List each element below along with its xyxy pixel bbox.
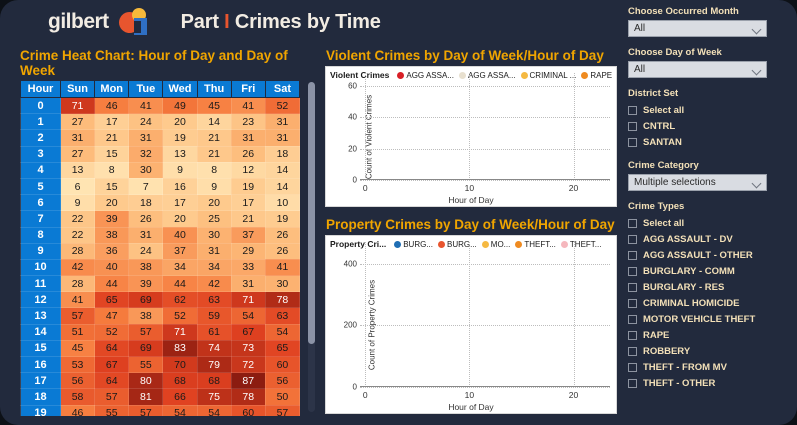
bar-slot bbox=[381, 242, 391, 387]
heat-row-hour: 10 bbox=[21, 259, 61, 275]
checkbox-icon[interactable] bbox=[628, 235, 637, 244]
heat-cell[interactable]: 14 bbox=[265, 162, 299, 178]
heat-cell[interactable]: 23 bbox=[231, 114, 265, 130]
heat-cell[interactable]: 68 bbox=[197, 373, 231, 389]
occurred-month-label: Choose Occurred Month bbox=[628, 6, 793, 17]
table-row[interactable]: 1653675570797260 bbox=[21, 357, 300, 373]
heat-cell[interactable]: 72 bbox=[231, 357, 265, 373]
table-row[interactable]: 1946555754546057 bbox=[21, 405, 300, 416]
heat-cell[interactable]: 30 bbox=[129, 162, 163, 178]
heat-cell[interactable]: 9 bbox=[163, 162, 197, 178]
table-row[interactable]: 071464149454152 bbox=[21, 98, 300, 114]
heat-cell[interactable]: 56 bbox=[61, 373, 95, 389]
bar-slot bbox=[475, 73, 485, 180]
heat-cell[interactable]: 63 bbox=[265, 308, 299, 324]
heat-cell[interactable]: 74 bbox=[197, 340, 231, 356]
table-row[interactable]: 1241656962637178 bbox=[21, 292, 300, 308]
heat-cell[interactable]: 54 bbox=[231, 308, 265, 324]
bar-slot bbox=[423, 242, 433, 387]
property-plot-area: 020040001020 bbox=[360, 242, 610, 387]
heat-cell[interactable]: 19 bbox=[231, 178, 265, 194]
heat-col-header-hour: Hour bbox=[21, 81, 61, 98]
table-row[interactable]: 327153213212618 bbox=[21, 146, 300, 162]
crime-category-label: Crime Category bbox=[628, 160, 793, 171]
table-row[interactable]: 127172420142331 bbox=[21, 114, 300, 130]
heat-cell[interactable]: 26 bbox=[265, 243, 299, 259]
heat-cell[interactable]: 58 bbox=[61, 389, 95, 405]
heat-cell[interactable]: 53 bbox=[61, 357, 95, 373]
bar-slot bbox=[485, 242, 495, 387]
heat-cell[interactable]: 27 bbox=[61, 114, 95, 130]
brand-logo: gilbert bbox=[48, 8, 149, 36]
crime-type-option-theft-from-mv[interactable]: THEFT - FROM MV bbox=[628, 359, 793, 375]
table-row[interactable]: 822383140303726 bbox=[21, 227, 300, 243]
heat-cell[interactable]: 56 bbox=[265, 373, 299, 389]
heat-cell[interactable]: 45 bbox=[61, 340, 95, 356]
heat-cell[interactable]: 9 bbox=[61, 195, 95, 211]
heat-cell[interactable]: 31 bbox=[231, 130, 265, 146]
gridline bbox=[360, 180, 610, 181]
heat-row-hour: 14 bbox=[21, 324, 61, 340]
heat-cell[interactable]: 61 bbox=[197, 324, 231, 340]
district-option-santan[interactable]: SANTAN bbox=[628, 134, 793, 150]
heat-cell[interactable]: 52 bbox=[95, 324, 129, 340]
heat-cell[interactable]: 21 bbox=[95, 130, 129, 146]
y-axis-tick: 40 bbox=[348, 113, 357, 122]
heat-cell[interactable]: 64 bbox=[95, 373, 129, 389]
heat-cell[interactable]: 14 bbox=[197, 114, 231, 130]
heat-cell[interactable]: 21 bbox=[197, 146, 231, 162]
heat-cell[interactable]: 30 bbox=[197, 227, 231, 243]
heat-cell[interactable]: 68 bbox=[163, 373, 197, 389]
heat-cell[interactable]: 19 bbox=[163, 130, 197, 146]
heat-cell[interactable]: 44 bbox=[95, 276, 129, 292]
day-of-week-select[interactable]: All bbox=[628, 61, 767, 78]
bar-slot bbox=[391, 73, 401, 180]
heat-cell[interactable]: 81 bbox=[129, 389, 163, 405]
heat-cell[interactable]: 59 bbox=[197, 308, 231, 324]
property-chart-title: Property Crimes by Day of Week/Hour of D… bbox=[322, 215, 620, 235]
heat-cell[interactable]: 16 bbox=[163, 178, 197, 194]
heat-row-hour: 1 bbox=[21, 114, 61, 130]
heat-row-hour: 12 bbox=[21, 292, 61, 308]
heat-cell[interactable]: 31 bbox=[231, 276, 265, 292]
table-row[interactable]: 1756648068688756 bbox=[21, 373, 300, 389]
violent-crimes-card: Violent Crimes by Day of Week/Hour of Da… bbox=[322, 46, 620, 211]
checkbox-label: CRIMINAL HOMICIDE bbox=[643, 298, 739, 309]
checkbox-label: AGG ASSAULT - DV bbox=[643, 234, 733, 245]
bar-slot bbox=[506, 242, 516, 387]
chevron-down-icon bbox=[752, 179, 762, 189]
heat-cell[interactable]: 47 bbox=[95, 308, 129, 324]
heat-cell[interactable]: 66 bbox=[163, 389, 197, 405]
heat-cell[interactable]: 62 bbox=[163, 292, 197, 308]
heat-cell[interactable]: 14 bbox=[265, 178, 299, 194]
y-axis-tick: 400 bbox=[344, 259, 357, 268]
bar-slot bbox=[589, 73, 599, 180]
bar-slot bbox=[548, 242, 558, 387]
heat-row-hour: 17 bbox=[21, 373, 61, 389]
bar-slot bbox=[454, 242, 464, 387]
violent-plot-area: 020406001020 bbox=[360, 73, 610, 180]
heat-cell[interactable]: 65 bbox=[95, 292, 129, 308]
day-of-week-label: Choose Day of Week bbox=[628, 47, 793, 58]
filter-panel: Choose Occurred Month All Choose Day of … bbox=[628, 6, 793, 421]
bar-slot bbox=[568, 73, 578, 180]
heat-cell[interactable]: 71 bbox=[231, 292, 265, 308]
bar-slot bbox=[475, 242, 485, 387]
heat-chart-title: Crime Heat Chart: Hour of Day and Day of… bbox=[14, 46, 304, 80]
heat-cell[interactable]: 60 bbox=[231, 405, 265, 416]
heat-row-hour: 5 bbox=[21, 178, 61, 194]
bar-slot bbox=[589, 242, 599, 387]
district-option-select-all[interactable]: Select all bbox=[628, 102, 793, 118]
x-axis-tick: 20 bbox=[569, 183, 578, 193]
bar-slot bbox=[370, 242, 380, 387]
crime-type-option-theft-other[interactable]: THEFT - OTHER bbox=[628, 375, 793, 391]
heat-cell[interactable]: 38 bbox=[95, 227, 129, 243]
heat-cell[interactable]: 49 bbox=[163, 98, 197, 114]
heat-cell[interactable]: 46 bbox=[95, 98, 129, 114]
crime-types-options: Select allAGG ASSAULT - DVAGG ASSAULT - … bbox=[628, 215, 793, 391]
table-row[interactable]: 1042403834343341 bbox=[21, 259, 300, 275]
heat-cell[interactable]: 83 bbox=[163, 340, 197, 356]
heat-cell[interactable]: 28 bbox=[61, 276, 95, 292]
bar-group bbox=[360, 73, 610, 180]
table-row[interactable]: 1128443944423130 bbox=[21, 276, 300, 292]
heat-cell[interactable]: 10 bbox=[265, 195, 299, 211]
heat-cell[interactable]: 75 bbox=[197, 389, 231, 405]
checkbox-icon[interactable] bbox=[628, 138, 637, 147]
bar-slot bbox=[537, 73, 547, 180]
bar-slot bbox=[558, 242, 568, 387]
heat-cell[interactable]: 18 bbox=[129, 195, 163, 211]
heat-chart-scrollbar[interactable] bbox=[308, 82, 315, 412]
heat-chart-scrollbar-thumb[interactable] bbox=[308, 82, 315, 344]
heat-cell[interactable]: 71 bbox=[61, 98, 95, 114]
gridline bbox=[360, 387, 610, 388]
heat-cell[interactable]: 69 bbox=[129, 292, 163, 308]
heat-cell[interactable]: 40 bbox=[163, 227, 197, 243]
y-axis-tick: 200 bbox=[344, 321, 357, 330]
bar-slot bbox=[506, 73, 516, 180]
crime-category-value: Multiple selections bbox=[634, 177, 716, 188]
heat-cell[interactable]: 13 bbox=[163, 146, 197, 162]
checkbox-icon[interactable] bbox=[628, 347, 637, 356]
crime-category-select[interactable]: Multiple selections bbox=[628, 174, 767, 191]
heat-cell[interactable]: 34 bbox=[197, 259, 231, 275]
heat-cell[interactable]: 64 bbox=[95, 340, 129, 356]
bar-slot bbox=[402, 242, 412, 387]
table-row[interactable]: 722392620252119 bbox=[21, 211, 300, 227]
bar-slot bbox=[527, 73, 537, 180]
heat-cell[interactable]: 13 bbox=[61, 162, 95, 178]
heat-row-hour: 6 bbox=[21, 195, 61, 211]
heat-cell[interactable]: 80 bbox=[129, 373, 163, 389]
heat-cell[interactable]: 71 bbox=[163, 324, 197, 340]
heat-row-hour: 0 bbox=[21, 98, 61, 114]
heat-cell[interactable]: 33 bbox=[231, 259, 265, 275]
bar-slot bbox=[464, 73, 474, 180]
heat-cell[interactable]: 57 bbox=[61, 308, 95, 324]
heat-cell[interactable]: 30 bbox=[265, 276, 299, 292]
table-row[interactable]: 413830981214 bbox=[21, 162, 300, 178]
heat-cell[interactable]: 8 bbox=[95, 162, 129, 178]
checkbox-icon[interactable] bbox=[628, 283, 637, 292]
heat-cell[interactable]: 50 bbox=[265, 389, 299, 405]
crime-type-option-burglary-res[interactable]: BURGLARY - RES bbox=[628, 279, 793, 295]
heat-row-hour: 19 bbox=[21, 405, 61, 416]
heat-cell[interactable]: 31 bbox=[61, 130, 95, 146]
heat-table-body: 0714641494541521271724201423312312131192… bbox=[21, 98, 300, 417]
bar-slot bbox=[443, 242, 453, 387]
heat-row-hour: 7 bbox=[21, 211, 61, 227]
checkbox-icon[interactable] bbox=[628, 363, 637, 372]
x-axis-tick: 10 bbox=[465, 183, 474, 193]
occurred-month-select[interactable]: All bbox=[628, 20, 767, 37]
checkbox-icon[interactable] bbox=[628, 379, 637, 388]
heat-cell[interactable]: 19 bbox=[265, 211, 299, 227]
heat-cell[interactable]: 20 bbox=[163, 211, 197, 227]
bar-slot bbox=[443, 73, 453, 180]
heat-cell[interactable]: 15 bbox=[95, 146, 129, 162]
heat-cell[interactable]: 52 bbox=[265, 98, 299, 114]
heat-cell[interactable]: 70 bbox=[163, 357, 197, 373]
heat-cell[interactable]: 20 bbox=[197, 195, 231, 211]
checkbox-label: THEFT - OTHER bbox=[643, 378, 715, 389]
bar-slot bbox=[412, 242, 422, 387]
checkbox-icon[interactable] bbox=[628, 267, 637, 276]
heat-chart-scroll-region[interactable]: HourSunMonTueWedThuFriSat 07146414945415… bbox=[20, 80, 312, 416]
heat-cell[interactable]: 26 bbox=[265, 227, 299, 243]
heat-row-hour: 9 bbox=[21, 243, 61, 259]
heat-cell[interactable]: 9 bbox=[197, 178, 231, 194]
bar-slot bbox=[600, 73, 610, 180]
table-row[interactable]: 1357473852595463 bbox=[21, 308, 300, 324]
heat-cell[interactable]: 7 bbox=[129, 178, 163, 194]
heat-cell[interactable]: 55 bbox=[129, 357, 163, 373]
heat-cell[interactable]: 65 bbox=[265, 340, 299, 356]
heat-cell[interactable]: 22 bbox=[61, 211, 95, 227]
district-set-label: District Set bbox=[628, 88, 793, 99]
heat-cell[interactable]: 25 bbox=[197, 211, 231, 227]
checkbox-icon[interactable] bbox=[628, 331, 637, 340]
gilbert-logo-icon bbox=[119, 8, 149, 36]
chevron-down-icon bbox=[752, 25, 762, 35]
x-axis-tick: 20 bbox=[569, 390, 578, 400]
heat-cell[interactable]: 26 bbox=[231, 146, 265, 162]
heat-cell[interactable]: 17 bbox=[231, 195, 265, 211]
checkbox-label: SANTAN bbox=[643, 137, 682, 148]
property-x-axis-label: Hour of Day bbox=[326, 402, 616, 412]
heat-cell[interactable]: 32 bbox=[129, 146, 163, 162]
heat-cell[interactable]: 31 bbox=[197, 243, 231, 259]
heat-cell[interactable]: 63 bbox=[197, 292, 231, 308]
crime-type-option-motor-vehicle-theft[interactable]: MOTOR VEHICLE THEFT bbox=[628, 311, 793, 327]
table-row[interactable]: 69201817201710 bbox=[21, 195, 300, 211]
heat-cell[interactable]: 38 bbox=[129, 308, 163, 324]
bar-slot bbox=[454, 73, 464, 180]
heat-cell[interactable]: 40 bbox=[95, 259, 129, 275]
checkbox-icon[interactable] bbox=[628, 106, 637, 115]
heat-cell[interactable]: 21 bbox=[231, 211, 265, 227]
heat-cell[interactable]: 69 bbox=[129, 340, 163, 356]
heat-cell[interactable]: 41 bbox=[231, 98, 265, 114]
heat-cell[interactable]: 38 bbox=[129, 259, 163, 275]
heat-cell[interactable]: 29 bbox=[231, 243, 265, 259]
heat-cell[interactable]: 41 bbox=[61, 292, 95, 308]
crime-types-label: Crime Types bbox=[628, 201, 793, 212]
heat-row-hour: 8 bbox=[21, 227, 61, 243]
checkbox-icon[interactable] bbox=[628, 299, 637, 308]
heat-row-hour: 11 bbox=[21, 276, 61, 292]
heat-cell[interactable]: 42 bbox=[61, 259, 95, 275]
heat-cell[interactable]: 78 bbox=[265, 292, 299, 308]
heat-col-header-thu: Thu bbox=[197, 81, 231, 98]
heat-row-hour: 16 bbox=[21, 357, 61, 373]
x-axis-tick: 0 bbox=[363, 183, 368, 193]
y-axis-tick: 60 bbox=[348, 81, 357, 90]
crime-type-option-rape[interactable]: RAPE bbox=[628, 327, 793, 343]
heat-cell[interactable]: 21 bbox=[197, 130, 231, 146]
checkbox-icon[interactable] bbox=[628, 251, 637, 260]
heat-col-header-fri: Fri bbox=[231, 81, 265, 98]
heat-cell[interactable]: 12 bbox=[231, 162, 265, 178]
heat-cell[interactable]: 31 bbox=[129, 130, 163, 146]
heat-cell[interactable]: 57 bbox=[129, 405, 163, 416]
heat-cell[interactable]: 57 bbox=[265, 405, 299, 416]
heat-cell[interactable]: 15 bbox=[95, 178, 129, 194]
bar-slot bbox=[402, 73, 412, 180]
heat-cell[interactable]: 28 bbox=[61, 243, 95, 259]
heat-cell[interactable]: 31 bbox=[265, 130, 299, 146]
crime-type-option-burglary-comm[interactable]: BURGLARY - COMM bbox=[628, 263, 793, 279]
heat-cell[interactable]: 8 bbox=[197, 162, 231, 178]
checkbox-label: Select all bbox=[643, 218, 684, 229]
filter-occurred-month: Choose Occurred Month All bbox=[628, 6, 793, 37]
checkbox-label: Select all bbox=[643, 105, 684, 116]
heat-cell[interactable]: 51 bbox=[61, 324, 95, 340]
heat-cell[interactable]: 20 bbox=[163, 114, 197, 130]
crime-type-option-select-all[interactable]: Select all bbox=[628, 215, 793, 231]
bar-slot bbox=[579, 73, 589, 180]
heat-cell[interactable]: 52 bbox=[163, 308, 197, 324]
heat-cell[interactable]: 67 bbox=[95, 357, 129, 373]
y-axis-tick: 0 bbox=[353, 176, 357, 185]
heat-cell[interactable]: 54 bbox=[163, 405, 197, 416]
bar-group bbox=[360, 242, 610, 387]
checkbox-icon[interactable] bbox=[628, 219, 637, 228]
heat-cell[interactable]: 55 bbox=[95, 405, 129, 416]
heat-cell[interactable]: 39 bbox=[129, 276, 163, 292]
table-row[interactable]: 1451525771616754 bbox=[21, 324, 300, 340]
bar-slot bbox=[495, 242, 505, 387]
bar-slot bbox=[433, 73, 443, 180]
heat-cell[interactable]: 60 bbox=[265, 357, 299, 373]
table-row[interactable]: 1858578166757850 bbox=[21, 389, 300, 405]
bar-slot bbox=[516, 73, 526, 180]
heat-cell[interactable]: 37 bbox=[163, 243, 197, 259]
bar-slot bbox=[568, 242, 578, 387]
crime-type-option-agg-assault-other[interactable]: AGG ASSAULT - OTHER bbox=[628, 247, 793, 263]
heat-cell[interactable]: 46 bbox=[61, 405, 95, 416]
bar-slot bbox=[370, 73, 380, 180]
heat-cell[interactable]: 22 bbox=[61, 227, 95, 243]
heat-table-header-row: HourSunMonTueWedThuFriSat bbox=[21, 81, 300, 98]
page-title-suffix: Crimes by Time bbox=[230, 11, 381, 33]
heat-row-hour: 2 bbox=[21, 130, 61, 146]
heat-cell[interactable]: 42 bbox=[197, 276, 231, 292]
heat-cell[interactable]: 26 bbox=[129, 211, 163, 227]
heat-col-header-wed: Wed bbox=[163, 81, 197, 98]
bar-slot bbox=[579, 242, 589, 387]
heat-cell[interactable]: 31 bbox=[129, 227, 163, 243]
heat-cell[interactable]: 24 bbox=[129, 114, 163, 130]
heat-cell[interactable]: 78 bbox=[231, 389, 265, 405]
heat-cell[interactable]: 6 bbox=[61, 178, 95, 194]
filter-crime-category: Crime Category Multiple selections bbox=[628, 160, 793, 191]
heat-cell[interactable]: 31 bbox=[265, 114, 299, 130]
heat-cell[interactable]: 41 bbox=[129, 98, 163, 114]
page-title-prefix: Part bbox=[181, 11, 224, 33]
heat-cell[interactable]: 54 bbox=[265, 324, 299, 340]
bar-slot bbox=[464, 242, 474, 387]
checkbox-label: BURGLARY - RES bbox=[643, 282, 724, 293]
heat-cell[interactable]: 67 bbox=[231, 324, 265, 340]
table-row[interactable]: 928362437312926 bbox=[21, 243, 300, 259]
heat-cell[interactable]: 73 bbox=[231, 340, 265, 356]
heat-cell[interactable]: 24 bbox=[129, 243, 163, 259]
heat-col-header-mon: Mon bbox=[95, 81, 129, 98]
heat-cell[interactable]: 45 bbox=[197, 98, 231, 114]
heat-cell[interactable]: 57 bbox=[129, 324, 163, 340]
heat-cell[interactable]: 37 bbox=[231, 227, 265, 243]
heat-cell[interactable]: 57 bbox=[95, 389, 129, 405]
property-chart-plot: Property Cri...BURG...BURG...MO...THEFT.… bbox=[325, 235, 617, 414]
district-option-cntrl[interactable]: CNTRL bbox=[628, 118, 793, 134]
heat-cell[interactable]: 87 bbox=[231, 373, 265, 389]
checkbox-label: MOTOR VEHICLE THEFT bbox=[643, 314, 755, 325]
heat-cell[interactable]: 79 bbox=[197, 357, 231, 373]
crime-type-option-robbery[interactable]: ROBBERY bbox=[628, 343, 793, 359]
heat-cell[interactable]: 34 bbox=[163, 259, 197, 275]
heat-cell[interactable]: 17 bbox=[95, 114, 129, 130]
heat-cell[interactable]: 27 bbox=[61, 146, 95, 162]
heat-cell[interactable]: 18 bbox=[265, 146, 299, 162]
crime-type-option-agg-assault-dv[interactable]: AGG ASSAULT - DV bbox=[628, 231, 793, 247]
checkbox-icon[interactable] bbox=[628, 122, 637, 131]
table-row[interactable]: 561571691914 bbox=[21, 178, 300, 194]
x-axis-tick: 0 bbox=[363, 390, 368, 400]
filter-day-of-week: Choose Day of Week All bbox=[628, 47, 793, 78]
table-row[interactable]: 1545646983747365 bbox=[21, 340, 300, 356]
checkbox-label: CNTRL bbox=[643, 121, 675, 132]
checkbox-icon[interactable] bbox=[628, 315, 637, 324]
heat-row-hour: 4 bbox=[21, 162, 61, 178]
table-row[interactable]: 231213119213131 bbox=[21, 130, 300, 146]
heat-cell[interactable]: 41 bbox=[265, 259, 299, 275]
heat-cell[interactable]: 39 bbox=[95, 211, 129, 227]
heat-cell[interactable]: 54 bbox=[197, 405, 231, 416]
district-set-options: Select allCNTRLSANTAN bbox=[628, 102, 793, 150]
heat-cell[interactable]: 36 bbox=[95, 243, 129, 259]
page-title: Part I Crimes by Time bbox=[181, 11, 381, 34]
heat-cell[interactable]: 44 bbox=[163, 276, 197, 292]
heat-cell[interactable]: 17 bbox=[163, 195, 197, 211]
heat-cell[interactable]: 20 bbox=[95, 195, 129, 211]
x-axis-tick: 10 bbox=[465, 390, 474, 400]
crime-type-option-criminal-homicide[interactable]: CRIMINAL HOMICIDE bbox=[628, 295, 793, 311]
